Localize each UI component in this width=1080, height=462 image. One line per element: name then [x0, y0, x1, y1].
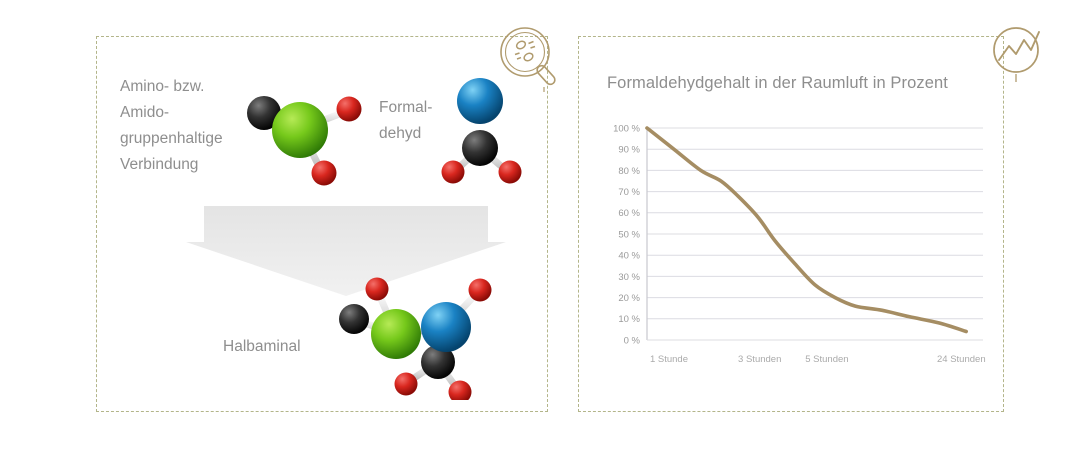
- x-axis-tick: 24 Stunden: [937, 354, 986, 365]
- y-axis-tick: 60 %: [618, 208, 640, 219]
- product-label: Halbaminal: [223, 338, 301, 356]
- slide-canvas: Amino- bzw. Amido- gruppenhaltige Verbin…: [0, 0, 1080, 462]
- y-axis-tick: 90 %: [618, 145, 640, 156]
- line-chart: 100 %90 %80 %70 %60 %50 %40 %30 %20 %10 …: [603, 122, 993, 382]
- trend-chart-icon: [989, 24, 1051, 86]
- y-axis-tick: 20 %: [618, 293, 640, 304]
- y-axis-tick: 30 %: [618, 272, 640, 283]
- halbaminal-molecule: [326, 272, 510, 400]
- y-axis-tick: 0 %: [624, 335, 641, 346]
- formaldehyde-molecule: [432, 68, 536, 186]
- x-axis-tick: 3 Stunden: [738, 354, 781, 365]
- y-axis-tick: 10 %: [618, 314, 640, 325]
- y-axis-tick: 40 %: [618, 251, 640, 262]
- chart-series-line: [647, 128, 966, 332]
- x-axis-tick: 5 Stunden: [805, 354, 848, 365]
- x-axis-tick: 1 Stunde: [650, 354, 688, 365]
- y-axis-tick: 80 %: [618, 166, 640, 177]
- y-axis-tick: 100 %: [613, 123, 640, 134]
- chart-title: Formaldehydgehalt in der Raumluft in Pro…: [607, 74, 948, 93]
- y-axis-tick: 50 %: [618, 229, 640, 240]
- amine-molecule: [238, 82, 374, 194]
- y-axis-tick: 70 %: [618, 187, 640, 198]
